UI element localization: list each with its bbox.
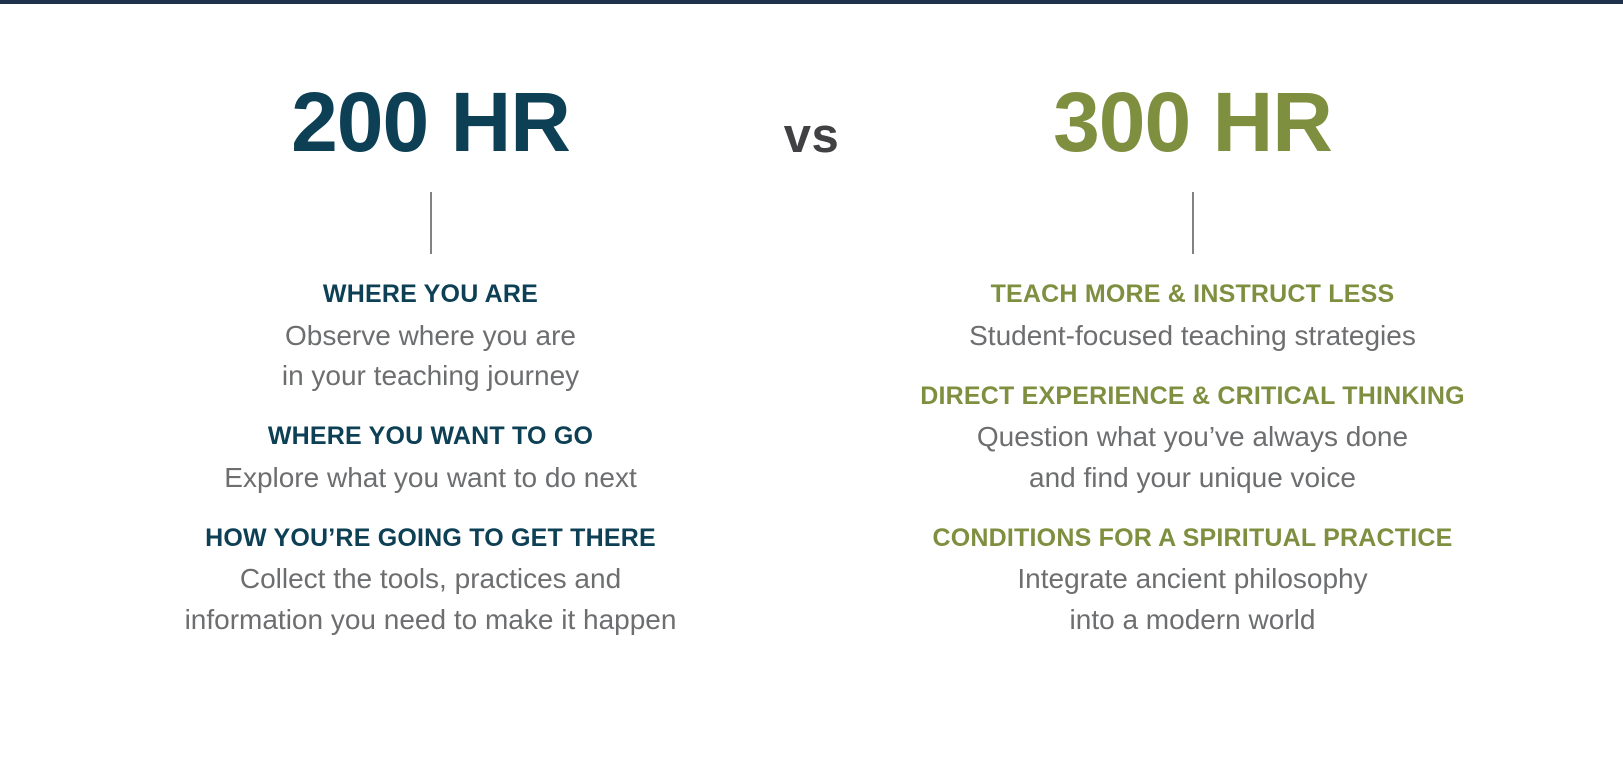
desc-line: Explore what you want to do next: [224, 458, 636, 498]
block-title: CONDITIONS FOR A SPIRITUAL PRACTICE: [933, 524, 1453, 554]
desc-line: Integrate ancient philosophy: [933, 559, 1453, 599]
versus-separator: vs: [764, 4, 859, 161]
block-description: Question what you’ve always done and fin…: [920, 417, 1464, 498]
desc-line: and find your unique voice: [920, 458, 1464, 498]
divider-rule-left: [430, 192, 432, 254]
blocks-200hr: WHERE YOU ARE Observe where you are in y…: [97, 280, 764, 640]
block-description: Collect the tools, practices and informa…: [185, 559, 677, 640]
versus-label: vs: [784, 112, 840, 161]
block-teach-more-instruct-less: TEACH MORE & INSTRUCT LESS Student-focus…: [969, 280, 1416, 356]
block-description: Observe where you are in your teaching j…: [282, 316, 579, 397]
block-where-you-want-to-go: WHERE YOU WANT TO GO Explore what you wa…: [224, 422, 636, 498]
column-300hr: 300 HR TEACH MORE & INSTRUCT LESS Studen…: [859, 4, 1526, 640]
block-title: WHERE YOU ARE: [282, 280, 579, 310]
desc-line: Question what you’ve always done: [920, 417, 1464, 457]
block-conditions-for-a-spiritual-practice: CONDITIONS FOR A SPIRITUAL PRACTICE Inte…: [933, 524, 1453, 640]
block-title: WHERE YOU WANT TO GO: [224, 422, 636, 452]
comparison-layout: 200 HR WHERE YOU ARE Observe where you a…: [0, 4, 1623, 760]
desc-line: information you need to make it happen: [185, 600, 677, 640]
block-description: Integrate ancient philosophy into a mode…: [933, 559, 1453, 640]
desc-line: in your teaching journey: [282, 356, 579, 396]
block-title: DIRECT EXPERIENCE & CRITICAL THINKING: [920, 382, 1464, 412]
desc-line: into a modern world: [933, 600, 1453, 640]
block-description: Explore what you want to do next: [224, 458, 636, 498]
block-how-youre-going-to-get-there: HOW YOU’RE GOING TO GET THERE Collect th…: [185, 524, 677, 640]
blocks-300hr: TEACH MORE & INSTRUCT LESS Student-focus…: [859, 280, 1526, 640]
block-direct-experience-critical-thinking: DIRECT EXPERIENCE & CRITICAL THINKING Qu…: [920, 382, 1464, 498]
desc-line: Observe where you are: [282, 316, 579, 356]
divider-rule-right: [1192, 192, 1194, 254]
block-title: TEACH MORE & INSTRUCT LESS: [969, 280, 1416, 310]
heading-200hr: 200 HR: [291, 80, 570, 164]
block-where-you-are: WHERE YOU ARE Observe where you are in y…: [282, 280, 579, 396]
desc-line: Collect the tools, practices and: [185, 559, 677, 599]
column-200hr: 200 HR WHERE YOU ARE Observe where you a…: [97, 4, 764, 640]
block-title: HOW YOU’RE GOING TO GET THERE: [185, 524, 677, 554]
block-description: Student-focused teaching strategies: [969, 316, 1416, 356]
desc-line: Student-focused teaching strategies: [969, 316, 1416, 356]
heading-300hr: 300 HR: [1053, 80, 1332, 164]
